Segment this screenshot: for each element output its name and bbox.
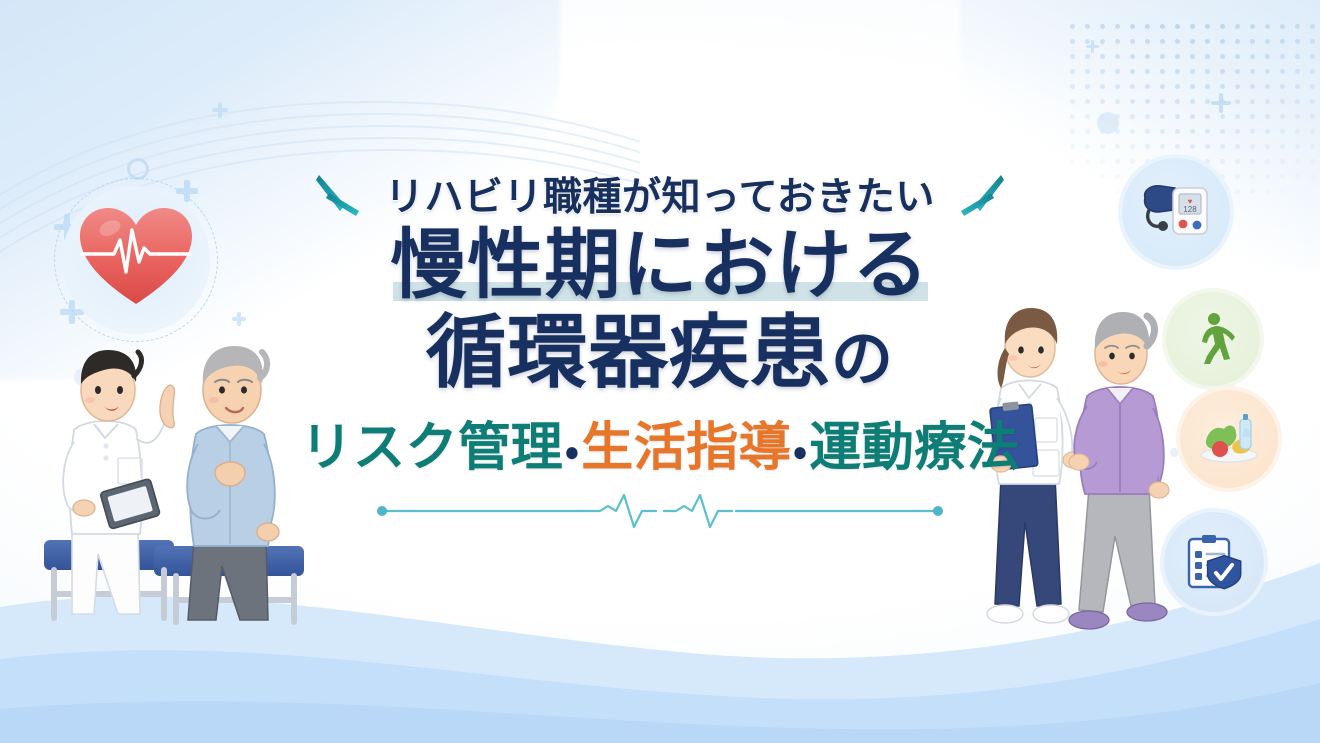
dot-decoration-icon <box>1097 112 1119 134</box>
headline-line2: 慢性期における <box>391 225 930 307</box>
headline-line4-segment-3: ・ <box>791 430 809 474</box>
plus-decoration-icon <box>1211 93 1231 113</box>
plus-decoration-icon <box>1086 40 1099 53</box>
headline-line3-suffix: の <box>831 325 894 394</box>
slash-decoration-right-icon <box>953 171 1005 217</box>
headline-line4-segment-4: 運動療法 <box>809 419 1019 477</box>
headline-kicker: リハビリ職種が知っておきたい <box>385 166 935 222</box>
banner-canvas: ♥ 128 <box>0 0 1320 743</box>
headline-line4-segment-2: 生活指導 <box>581 419 791 477</box>
plus-decoration-icon <box>212 102 228 118</box>
ecg-divider <box>372 494 948 528</box>
checklist-shield-icon <box>1183 531 1245 593</box>
headline-block: リハビリ職種が知っておきたい 慢性期における 循環器疾患の リスク管理・生活指導… <box>0 165 1320 528</box>
slash-decoration-left-icon <box>315 171 367 217</box>
headline-line4-segment-0: リスク管理 <box>301 419 564 477</box>
headline-line4: リスク管理・生活指導・運動療法 <box>0 405 1320 480</box>
headline-line2-wrapper: 慢性期における <box>391 225 930 307</box>
headline-line4-segment-1: ・ <box>563 430 581 474</box>
headline-line3-main: 循環器疾患 <box>426 308 831 397</box>
headline-line3: 循環器疾患の <box>0 311 1320 395</box>
kicker-row: リハビリ職種が知っておきたい <box>0 165 1320 223</box>
